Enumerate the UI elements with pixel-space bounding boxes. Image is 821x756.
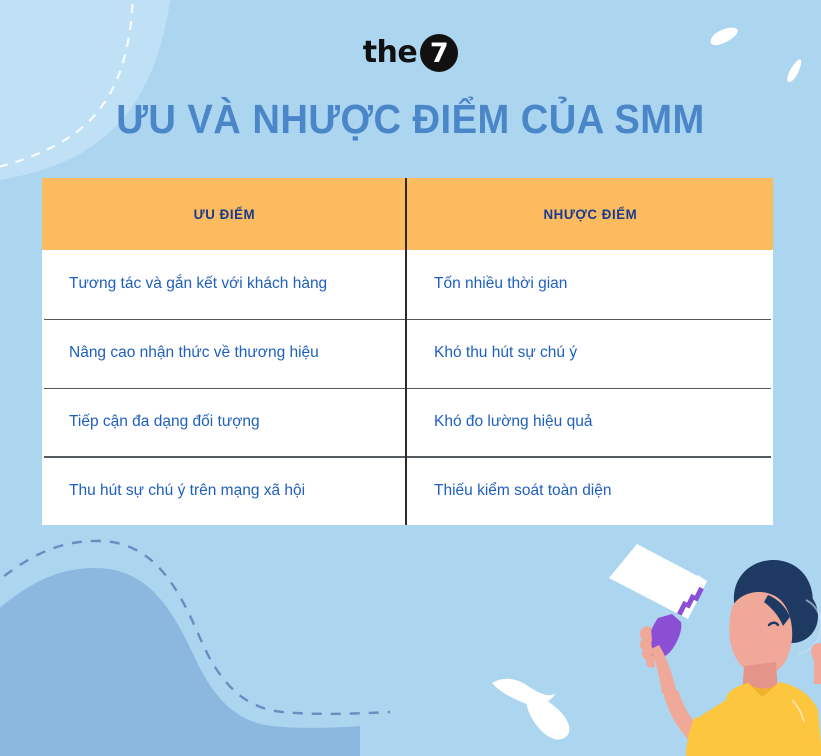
page-title: ƯU VÀ NHƯỢC ĐIỂM CỦA SMM: [29, 96, 793, 143]
table-header-cons: NHƯỢC ĐIỂM: [407, 178, 773, 250]
comparison-table: ƯU ĐIỂM Tương tác và gắn kết với khách h…: [42, 178, 773, 525]
logo-wordmark: the: [363, 38, 418, 68]
megaphone-band: [678, 575, 707, 619]
hand-left: [640, 626, 652, 641]
finger-2: [642, 647, 653, 661]
megaphone-stripe-2: [685, 594, 696, 609]
table-row: Khó thu hút sự chú ý: [407, 319, 773, 388]
shirt: [686, 682, 821, 756]
finger-3: [646, 656, 655, 668]
table-row: Thu hút sự chú ý trên mạng xã hội: [42, 456, 407, 525]
table-row: Tiếp cận đa dạng đối tượng: [42, 388, 407, 457]
bottom-left-wave: [0, 568, 360, 756]
eye: [769, 623, 778, 625]
table-header-pros: ƯU ĐIỂM: [42, 178, 407, 250]
infographic-canvas: the 7 ƯU VÀ NHƯỢC ĐIỂM CỦA SMM ƯU ĐIỂM T…: [0, 0, 821, 756]
table-row: Khó đo lường hiệu quả: [407, 388, 773, 457]
face: [729, 592, 792, 675]
megaphone-cone: [609, 544, 707, 619]
megaphone-stripe-1: [677, 601, 688, 616]
shirt-fold: [792, 700, 804, 722]
table-row: Nâng cao nhận thức về thương hiệu: [42, 319, 407, 388]
megaphone-stripe-3: [693, 587, 704, 602]
ribbon-leaf-icon: [492, 679, 569, 740]
woman-with-megaphone-illustration: [609, 544, 821, 756]
table-row: Thiếu kiểm soát toàn diện: [407, 456, 773, 525]
sleeve-left: [686, 716, 714, 756]
hand-right: [811, 643, 821, 684]
logo-seven-badge-icon: 7: [420, 34, 458, 72]
finger-1: [640, 637, 652, 652]
neck: [742, 662, 778, 694]
table-row: Tương tác và gắn kết với khách hàng: [42, 250, 407, 319]
bottom-left-dashed-curve: [0, 541, 390, 714]
megaphone-handle: [648, 614, 681, 657]
table-header-pros-label: ƯU ĐIỂM: [194, 206, 256, 222]
hair-bun: [768, 589, 818, 643]
table-header-cons-label: NHƯỢC ĐIỂM: [543, 206, 637, 222]
collar: [748, 682, 780, 697]
table-column-cons: NHƯỢC ĐIỂM Tốn nhiều thời gian Khó thu h…: [407, 178, 773, 525]
arm-left: [651, 645, 676, 694]
hair-strand: [764, 595, 790, 626]
hair-highlight: [798, 600, 821, 654]
table-column-pros: ƯU ĐIỂM Tương tác và gắn kết với khách h…: [42, 178, 407, 525]
table-row: Tốn nhiều thời gian: [407, 250, 773, 319]
hair-top: [734, 560, 813, 630]
brand-logo: the 7: [0, 34, 821, 72]
forearm-left: [663, 690, 706, 743]
top-left-blob: [0, 0, 175, 186]
top-left-dashed-curve: [0, 0, 133, 174]
